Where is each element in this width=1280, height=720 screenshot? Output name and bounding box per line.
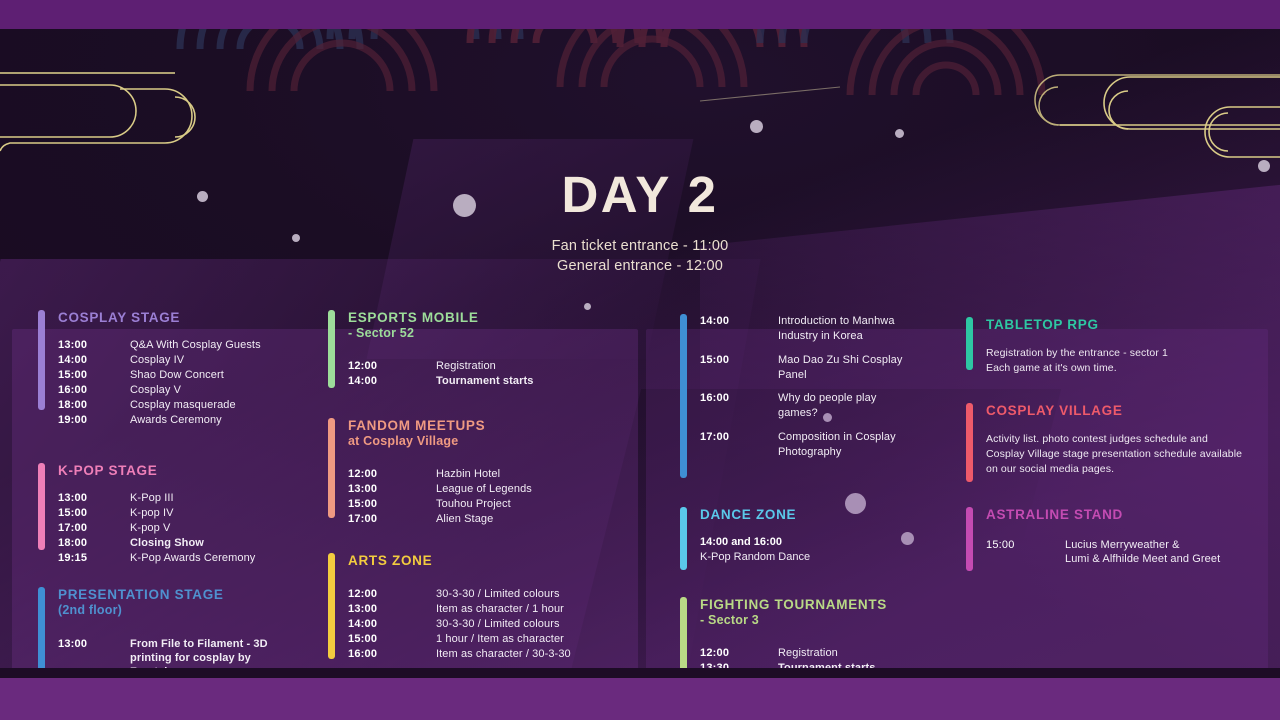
block-title: ARTS ZONE xyxy=(348,553,618,569)
top-band xyxy=(0,0,1280,29)
schedule-row: 14:00Introduction to Manhwa Industry in … xyxy=(700,314,950,344)
schedule-row: 15:00 Lucius Merryweather & Lumi & Alfhi… xyxy=(986,538,1256,566)
block-esports-mobile: ESPORTS MOBILE - Sector 52 12:00Registra… xyxy=(328,310,608,389)
block-title: PRESENTATION STAGE xyxy=(58,587,318,603)
row-time: 17:00 xyxy=(58,521,130,535)
block-astraline-stand: ASTRALINE STAND 15:00 Lucius Merryweathe… xyxy=(966,507,1256,571)
schedule-row: 19:00Awards Ceremony xyxy=(58,413,308,427)
row-time: 15:00 xyxy=(986,538,1065,552)
row-time: 13:00 xyxy=(58,338,130,352)
schedule-rows: 13:00K-Pop III 15:00K-pop IV 17:00K-pop … xyxy=(58,491,308,565)
decor-dot xyxy=(584,303,591,310)
row-desc: Cosplay IV xyxy=(130,353,184,367)
row-desc: Q&A With Cosplay Guests xyxy=(130,338,261,352)
block-presentation-stage-continued: 14:00Introduction to Manhwa Industry in … xyxy=(680,314,950,478)
row-time: 14:00 xyxy=(348,374,436,388)
block-title: COSPLAY VILLAGE xyxy=(986,403,1256,419)
schedule-row: 13:00Q&A With Cosplay Guests xyxy=(58,338,308,352)
accent-bar xyxy=(966,403,973,482)
row-desc: League of Legends xyxy=(436,482,532,496)
row-desc: K-Pop Awards Ceremony xyxy=(130,551,255,565)
row-time: 13:00 xyxy=(58,491,130,505)
schedule-row: 16:00Cosplay V xyxy=(58,383,308,397)
row-desc: Shao Dow Concert xyxy=(130,368,224,382)
row-time: 14:00 xyxy=(58,353,130,367)
block-subtitle: at Cosplay Village xyxy=(348,434,608,449)
row-desc: Lucius Merryweather & Lumi & Alfhilde Me… xyxy=(1065,538,1220,566)
row-time: 12:00 xyxy=(348,467,436,481)
row-time: 16:00 xyxy=(348,647,436,661)
block-title: TABLETOP RPG xyxy=(986,317,1256,333)
poster-stage: DAY 2 Fan ticket entrance - 11:00 Genera… xyxy=(0,0,1280,720)
block-title: ASTRALINE STAND xyxy=(986,507,1256,523)
block-fighting-tournaments: FIGHTING TOURNAMENTS - Sector 3 12:00Reg… xyxy=(680,597,960,676)
row-time: 15:00 xyxy=(348,632,436,646)
block-title: COSPLAY STAGE xyxy=(58,310,308,326)
row-time: 12:00 xyxy=(348,587,436,601)
accent-bar xyxy=(328,418,335,518)
day-title: DAY 2 xyxy=(0,169,1280,220)
entrance-info: Fan ticket entrance - 11:00 General entr… xyxy=(0,236,1280,276)
row-desc: Item as character / 1 hour xyxy=(436,602,564,616)
dance-zone-detail: 14:00 and 16:00 K-Pop Random Dance xyxy=(700,535,950,565)
row-desc: Hazbin Hotel xyxy=(436,467,500,481)
accent-bar xyxy=(680,597,687,676)
row-desc: 30-3-30 / Limited colours xyxy=(436,617,560,631)
row-desc: Cosplay V xyxy=(130,383,181,397)
row-desc: Why do people play games? xyxy=(778,391,918,421)
row-time: 15:00 xyxy=(58,368,130,382)
schedule-row: 17:00Composition in Cosplay Photography xyxy=(700,430,950,460)
row-time: 15:00 xyxy=(700,353,778,367)
bottom-shadow xyxy=(0,668,1280,678)
dance-zone-desc: K-Pop Random Dance xyxy=(700,550,950,565)
accent-bar xyxy=(680,314,687,478)
schedule-row: 15:00Shao Dow Concert xyxy=(58,368,308,382)
schedule-rows: 12:0030-3-30 / Limited colours 13:00Item… xyxy=(348,587,618,661)
accent-bar xyxy=(38,587,45,678)
schedule-row: 13:00K-Pop III xyxy=(58,491,308,505)
schedule-row: 15:001 hour / Item as character xyxy=(348,632,618,646)
block-title: K-POP STAGE xyxy=(58,463,308,479)
schedule-rows: 13:00Q&A With Cosplay Guests 14:00Cospla… xyxy=(58,338,308,427)
schedule-rows: 12:00Hazbin Hotel 13:00League of Legends… xyxy=(348,467,608,526)
decor-dot xyxy=(750,120,763,133)
schedule-row: 19:15K-Pop Awards Ceremony xyxy=(58,551,308,565)
block-kpop-stage: K-POP STAGE 13:00K-Pop III 15:00K-pop IV… xyxy=(38,463,308,566)
schedule-row: 12:00Registration xyxy=(700,646,960,660)
accent-bar xyxy=(38,310,45,410)
dance-zone-times: 14:00 and 16:00 xyxy=(700,535,950,550)
row-desc: Awards Ceremony xyxy=(130,413,222,427)
row-desc: Closing Show xyxy=(130,536,204,550)
schedule-row: 14:00Cosplay IV xyxy=(58,353,308,367)
accent-bar xyxy=(328,310,335,388)
row-desc: Introduction to Manhwa Industry in Korea xyxy=(778,314,918,344)
accent-bar xyxy=(966,507,973,571)
row-time: 19:00 xyxy=(58,413,130,427)
schedule-rows: 14:00Introduction to Manhwa Industry in … xyxy=(700,314,950,460)
row-desc: Mao Dao Zu Shi Cosplay Panel xyxy=(778,353,918,383)
row-desc: Touhou Project xyxy=(436,497,511,511)
schedule-row: 16:00Item as character / 30-3-30 xyxy=(348,647,618,661)
row-desc: Registration xyxy=(436,359,496,373)
block-cosplay-village: COSPLAY VILLAGE Activity list. photo con… xyxy=(966,403,1256,482)
block-fandom-meetups: FANDOM MEETUPS at Cosplay Village 12:00H… xyxy=(328,418,608,527)
row-time: 19:15 xyxy=(58,551,130,565)
decor-dot xyxy=(895,129,904,138)
row-desc: K-pop V xyxy=(130,521,170,535)
block-cosplay-stage: COSPLAY STAGE 13:00Q&A With Cosplay Gues… xyxy=(38,310,308,428)
row-desc: 1 hour / Item as character xyxy=(436,632,564,646)
schedule-row: 16:00Why do people play games? xyxy=(700,391,950,421)
row-time: 16:00 xyxy=(58,383,130,397)
block-subtitle: - Sector 3 xyxy=(700,613,960,628)
accent-bar xyxy=(966,317,973,370)
row-time: 16:00 xyxy=(700,391,778,405)
block-title: FIGHTING TOURNAMENTS xyxy=(700,597,960,613)
schedule-row: 15:00Touhou Project xyxy=(348,497,608,511)
row-time: 18:00 xyxy=(58,398,130,412)
block-subtitle: (2nd floor) xyxy=(58,603,318,618)
entrance-line-general: General entrance - 12:00 xyxy=(0,256,1280,276)
schedule-row: 14:0030-3-30 / Limited colours xyxy=(348,617,618,631)
accent-bar xyxy=(328,553,335,659)
accent-bar xyxy=(680,507,687,570)
row-desc: Alien Stage xyxy=(436,512,493,526)
schedule-row: 12:0030-3-30 / Limited colours xyxy=(348,587,618,601)
row-time: 12:00 xyxy=(348,359,436,373)
row-time: 14:00 xyxy=(348,617,436,631)
bottom-band xyxy=(0,678,1280,720)
row-desc: Cosplay masquerade xyxy=(130,398,236,412)
poster-body: DAY 2 Fan ticket entrance - 11:00 Genera… xyxy=(0,29,1280,678)
row-desc: Tournament starts xyxy=(436,374,533,388)
schedule-row: 15:00Mao Dao Zu Shi Cosplay Panel xyxy=(700,353,950,383)
accent-bar xyxy=(38,463,45,550)
schedule-row: 13:00League of Legends xyxy=(348,482,608,496)
schedule-rows: 12:00Registration 14:00Tournament starts xyxy=(348,359,608,388)
row-time: 12:00 xyxy=(700,646,778,660)
schedule-row: 17:00Alien Stage xyxy=(348,512,608,526)
entrance-line-fan: Fan ticket entrance - 11:00 xyxy=(0,236,1280,256)
block-arts-zone: ARTS ZONE 12:0030-3-30 / Limited colours… xyxy=(328,553,618,662)
schedule-row: 18:00Cosplay masquerade xyxy=(58,398,308,412)
schedule-row: 14:00Tournament starts xyxy=(348,374,608,388)
row-time: 13:00 xyxy=(348,482,436,496)
row-time: 13:00 xyxy=(348,602,436,616)
schedule-row: 13:00Item as character / 1 hour xyxy=(348,602,618,616)
poster-header: DAY 2 Fan ticket entrance - 11:00 Genera… xyxy=(0,169,1280,276)
row-time: 15:00 xyxy=(58,506,130,520)
schedule-row: 18:00Closing Show xyxy=(58,536,308,550)
schedule-rows: 15:00 Lucius Merryweather & Lumi & Alfhi… xyxy=(986,538,1256,566)
block-note: Registration by the entrance - sector 1 … xyxy=(986,346,1256,376)
block-presentation-stage: PRESENTATION STAGE (2nd floor) 13:00From… xyxy=(38,587,318,678)
block-note: Activity list. photo contest judges sche… xyxy=(986,432,1244,477)
row-desc: Registration xyxy=(778,646,838,660)
row-desc: K-pop IV xyxy=(130,506,174,520)
row-time: 14:00 xyxy=(700,314,778,328)
block-dance-zone: DANCE ZONE 14:00 and 16:00 K-Pop Random … xyxy=(680,507,950,570)
block-title: FANDOM MEETUPS xyxy=(348,418,608,434)
row-time: 18:00 xyxy=(58,536,130,550)
block-subtitle: - Sector 52 xyxy=(348,326,608,341)
block-title: DANCE ZONE xyxy=(700,507,950,523)
row-time: 15:00 xyxy=(348,497,436,511)
schedule-row: 12:00Hazbin Hotel xyxy=(348,467,608,481)
row-time: 17:00 xyxy=(348,512,436,526)
schedule-row: 17:00K-pop V xyxy=(58,521,308,535)
row-time: 13:00 xyxy=(58,637,130,651)
row-time: 17:00 xyxy=(700,430,778,444)
row-desc: Composition in Cosplay Photography xyxy=(778,430,918,460)
block-tabletop-rpg: TABLETOP RPG Registration by the entranc… xyxy=(966,317,1256,376)
row-desc: K-Pop III xyxy=(130,491,174,505)
schedule-row: 12:00Registration xyxy=(348,359,608,373)
row-desc: 30-3-30 / Limited colours xyxy=(436,587,560,601)
schedule-row: 15:00K-pop IV xyxy=(58,506,308,520)
block-title: ESPORTS MOBILE xyxy=(348,310,608,326)
row-desc: Item as character / 30-3-30 xyxy=(436,647,571,661)
